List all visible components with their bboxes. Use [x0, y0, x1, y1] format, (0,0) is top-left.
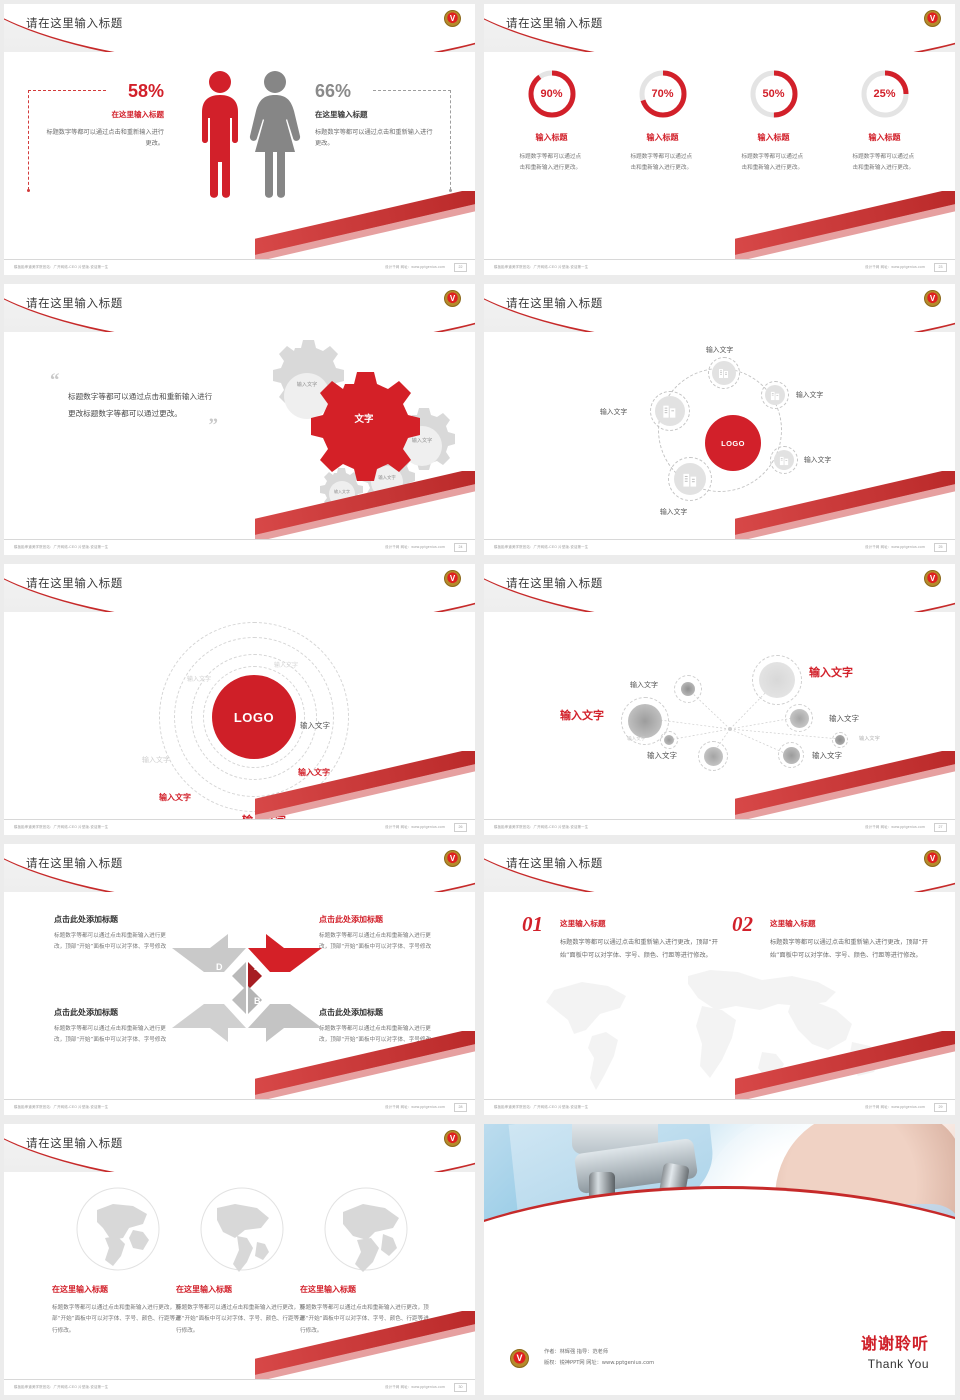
donut-value: 90% [526, 68, 578, 120]
logo-badge-icon: V [924, 850, 941, 867]
concentric-core-logo[interactable]: LOGO [212, 675, 296, 759]
donut-ring-25: 25% [859, 68, 911, 120]
gear-label: 输入文字 [402, 438, 442, 445]
thanks-chinese: 谢谢聆听 [861, 1330, 929, 1354]
corner-ribbon [735, 751, 955, 821]
slide-title: 请在这里输入标题 [26, 295, 123, 311]
donut-value: 50% [748, 68, 800, 120]
page-number: 29 [934, 1103, 947, 1112]
logo-badge-icon: V [924, 290, 941, 307]
female-figure-icon [250, 71, 300, 198]
slide-footer: 模板跆拳道美学院官站：广开网络-CEO 片型版-说话第一生 设计千网 网址：ww… [484, 819, 955, 835]
slide-title: 请在这里输入标题 [506, 575, 603, 591]
logo-badge-icon: V [924, 570, 941, 587]
donut-description: 标题数字等都可以通过点击和重新输入进行更改。 [742, 152, 806, 174]
hub-node-label: 输入文字 [600, 406, 627, 416]
globe-icon-asia [75, 1186, 161, 1272]
quadrant-title: 点击此处添加标题 [54, 1007, 174, 1018]
footer-right-text: 设计千网 网址：www.pptgenius.com [385, 1104, 445, 1109]
footer-left-text: 模板跆拳道美学院官站：广开网络-CEO 片型版-说话第一生 [14, 1384, 108, 1389]
orbit-label: 输入文字 [187, 674, 211, 683]
female-subtitle: 在这里输入标题 [315, 109, 435, 120]
corner-ribbon [255, 471, 475, 541]
building-icon [682, 471, 699, 488]
slide-concentric-logo[interactable]: 请在这里输入标题 V LOGO 输入文字 输入文字 输入文字 输入文字 输入文字… [0, 560, 480, 840]
badge-glyph: V [450, 1135, 455, 1143]
bracket-left [28, 90, 29, 190]
quadrant-bottom-left: 点击此处添加标题 标题数字等都可以通过点击和重新输入进行更改，顶部“开始”面板中… [54, 1007, 174, 1047]
corner-ribbon [735, 471, 955, 541]
corner-ribbon [255, 751, 475, 821]
donut-item: 50% 输入标题 标题数字等都可以通过点击和重新输入进行更改。 [718, 68, 829, 174]
footer-right-text: 设计千网 网址：www.pptgenius.com [385, 264, 445, 269]
slide-gears-quote[interactable]: 请在这里输入标题 V “ 标题数字等都可以通过点击和重新输入进行更改标题数字等都… [0, 280, 480, 560]
quote-open-icon: “ [50, 374, 218, 387]
stat-block-female: 66% 在这里输入标题 标题数字等都可以通过点击和重新输入进行更改。 [315, 82, 435, 150]
slide-thank-you[interactable]: V 作者：林辉强 指导：范老师 版权：锐神PPT网 网址：www.pptgeni… [480, 1120, 960, 1400]
orbit-label: 输入文字 [274, 660, 298, 669]
slide-gender-comparison[interactable]: 请在这里输入标题 V 58% 在这里输入标题 标题数字等都可以通过点击和重新输入… [0, 0, 480, 280]
badge-glyph: V [450, 15, 455, 23]
credits-block: 作者：林辉强 指导：范老师 版权：锐神PPT网 网址：www.pptgenius… [544, 1347, 654, 1369]
footer-left-text: 模板跆拳道美学院官站：广开网络-CEO 片型版-说话第一生 [14, 824, 108, 829]
network-node-large[interactable] [628, 704, 662, 738]
arrow-graphics [172, 928, 322, 1048]
slide-title: 请在这里输入标题 [506, 855, 603, 871]
thank-you-block: 谢谢聆听 Thank You [861, 1330, 929, 1371]
page-number: 26 [454, 823, 467, 832]
hub-node-top-right[interactable] [765, 385, 785, 405]
footer-left-text: 模板跆拳道美学院官站：广开网络-CEO 片型版-说话第一生 [14, 264, 108, 269]
male-description: 标题数字等都可以通过点击和重新输入进行更改。 [44, 127, 164, 150]
logo-badge-icon: V [444, 570, 461, 587]
network-node-label-primary: 输入文字 [560, 707, 604, 723]
bracket-right [450, 90, 451, 190]
badge-glyph: V [930, 855, 935, 863]
globe-title: 在这里输入标题 [176, 1284, 308, 1295]
footer-left-text: 模板跆拳道美学院官站：广开网络-CEO 片型版-说话第一生 [14, 1104, 108, 1109]
male-subtitle: 在这里输入标题 [44, 109, 164, 120]
page-number: 25 [934, 543, 947, 552]
arrow-letter-c: C [216, 996, 223, 1006]
donut-ring-70: 70% [637, 68, 689, 120]
corner-ribbon [735, 1031, 955, 1101]
hub-node-label: 输入文字 [660, 506, 687, 516]
badge-glyph: V [450, 855, 455, 863]
quadrant-title: 点击此处添加标题 [319, 914, 439, 925]
corner-ribbon [255, 1311, 475, 1381]
network-node-small[interactable] [664, 735, 674, 745]
donut-description: 标题数字等都可以通过点击和重新输入进行更改。 [631, 152, 695, 174]
logo-badge-icon: V [444, 1130, 461, 1147]
quadrant-desc: 标题数字等都可以通过点击和重新输入进行更改，顶部“开始”面板中可以对字体、字号修… [319, 931, 439, 954]
corner-ribbon [735, 191, 955, 261]
slide-footer: 模板跆拳道美学院官站：广开网络-CEO 片型版-说话第一生 设计千网 网址：ww… [4, 819, 475, 835]
network-node-label: 输入文字 [627, 736, 645, 742]
orbit-label: 输入文字 [300, 720, 330, 731]
donut-description: 标题数字等都可以通过点击和重新输入进行更改。 [853, 152, 917, 174]
logo-badge-icon: V [444, 10, 461, 27]
credit-copyright-line: 版权：锐神PPT网 网址：www.pptgenius.com [544, 1358, 654, 1369]
numbered-item-01: 01 这里输入标题 标题数字等都可以通过点击和重新输入进行更改，顶部“开始”面板… [522, 918, 722, 962]
network-node-label-primary: 输入文字 [809, 664, 853, 680]
donut-ring-90: 90% [526, 68, 578, 120]
thanks-english: Thank You [861, 1357, 929, 1371]
slide-grid: 请在这里输入标题 V 58% 在这里输入标题 标题数字等都可以通过点击和重新输入… [0, 0, 960, 1400]
slide-donut-stats[interactable]: 请在这里输入标题 V 90% 输入标题 标题数字等都可以通过点击和重新输入进 [480, 0, 960, 280]
badge-glyph: V [450, 295, 455, 303]
page-number: 23 [934, 263, 947, 272]
female-description: 标题数字等都可以通过点击和重新输入进行更改。 [315, 127, 435, 150]
footer-right-text: 设计千网 网址：www.pptgenius.com [865, 544, 925, 549]
globe-icon-americas [199, 1186, 285, 1272]
hub-node-label: 输入文字 [804, 454, 831, 464]
network-node-label: 输入文字 [647, 750, 677, 761]
badge-glyph: V [450, 575, 455, 583]
quote-block: “ 标题数字等都可以通过点击和重新输入进行更改标题数字等都可以通过更改。 ” [50, 374, 218, 432]
item-desc: 标题数字等都可以通过点击和重新输入进行更改，顶部“开始”面板中可以对字体、字号、… [770, 937, 932, 962]
item-desc: 标题数字等都可以通过点击和重新输入进行更改，顶部“开始”面板中可以对字体、字号、… [560, 937, 722, 962]
gender-figures [190, 68, 310, 203]
item-title: 这里输入标题 [560, 918, 722, 929]
donut-chart-row: 90% 输入标题 标题数字等都可以通过点击和重新输入进行更改。 70% [496, 68, 943, 174]
badge-glyph: V [930, 575, 935, 583]
arrow-c [172, 1004, 246, 1042]
quadrant-top-left: 点击此处添加标题 标题数字等都可以通过点击和重新输入进行更改，顶部“开始”面板中… [54, 914, 174, 954]
footer-right-text: 设计千网 网址：www.pptgenius.com [385, 824, 445, 829]
slide-network-nodes[interactable]: 请在这里输入标题 V [480, 560, 960, 840]
building-icon [779, 455, 790, 466]
donut-title: 输入标题 [536, 132, 568, 143]
slide-footer: 模板跆拳道美学院官站：广开网络-CEO 片型版-说话第一生 设计千网 网址：ww… [4, 259, 475, 275]
slide-footer: 模板跆拳道美学院官站：广开网络-CEO 片型版-说话第一生 设计千网 网址：ww… [484, 1099, 955, 1115]
globe-block-1: 在这里输入标题 标题数字等都可以通过点击和重新输入进行更改，顶部“开始”面板中可… [52, 1186, 184, 1337]
badge-glyph: V [930, 295, 935, 303]
footer-left-text: 模板跆拳道美学院官站：广开网络-CEO 片型版-说话第一生 [494, 264, 588, 269]
logo-badge-icon: V [924, 10, 941, 27]
hub-core-logo[interactable]: LOGO [705, 415, 761, 471]
bracket-dot-left [27, 189, 30, 192]
slide-title: 请在这里输入标题 [26, 1135, 123, 1151]
badge-glyph: V [516, 1354, 522, 1363]
slide-footer: 模板跆拳道美学院官站：广开网络-CEO 片型版-说话第一生 设计千网 网址：ww… [4, 539, 475, 555]
badge-glyph: V [930, 15, 935, 23]
quadrant-title: 点击此处添加标题 [319, 1007, 439, 1018]
quadrant-desc: 标题数字等都可以通过点击和重新输入进行更改，顶部“开始”面板中可以对字体、字号修… [54, 1024, 174, 1047]
male-percent: 58% [44, 82, 164, 102]
quote-text: 标题数字等都可以通过点击和重新输入进行更改标题数字等都可以通过更改。 [68, 389, 218, 422]
slide-footer: 模板跆拳道美学院官站：广开网络-CEO 片型版-说话第一生 设计千网 网址：ww… [484, 259, 955, 275]
slide-title: 请在这里输入标题 [26, 15, 123, 31]
donut-description: 标题数字等都可以通过点击和重新输入进行更改。 [520, 152, 584, 174]
donut-ring-50: 50% [748, 68, 800, 120]
page-number: 28 [454, 1103, 467, 1112]
network-node-label: 输入文字 [859, 735, 880, 742]
hub-node-label: 输入文字 [796, 389, 823, 399]
slide-abcd-arrows[interactable]: 请在这里输入标题 V 点击此处添加标题 标题数字等都可以通过点击和重新输入进行更… [0, 840, 480, 1120]
hub-node-bottom-right[interactable] [774, 450, 794, 470]
numbered-item-02: 02 这里输入标题 标题数字等都可以通过点击和重新输入进行更改，顶部“开始”面板… [732, 918, 932, 962]
male-figure-icon [202, 71, 238, 198]
logo-badge-icon: V [444, 290, 461, 307]
slide-title: 请在这里输入标题 [506, 15, 603, 31]
donut-item: 25% 输入标题 标题数字等都可以通过点击和重新输入进行更改。 [829, 68, 940, 174]
quadrant-top-right: 点击此处添加标题 标题数字等都可以通过点击和重新输入进行更改，顶部“开始”面板中… [319, 914, 439, 954]
quadrant-title: 点击此处添加标题 [54, 914, 174, 925]
globe-title: 在这里输入标题 [300, 1284, 432, 1295]
item-title: 这里输入标题 [770, 918, 932, 929]
gear-main-label: 文字 [334, 414, 394, 427]
footer-left-text: 模板跆拳道美学院官站：广开网络-CEO 片型版-说话第一生 [494, 824, 588, 829]
network-node-large[interactable] [759, 662, 795, 698]
logo-badge-icon: V [444, 850, 461, 867]
building-icon [770, 390, 781, 401]
orbit-label: 输入文字 [159, 792, 191, 803]
hub-node-top[interactable] [712, 361, 736, 385]
footer-right-text: 设计千网 网址：www.pptgenius.com [865, 1104, 925, 1109]
orbit-label: 输入文字 [142, 755, 170, 765]
hub-node-left[interactable] [655, 396, 685, 426]
arrow-letter-a: A [254, 962, 261, 972]
quadrant-desc: 标题数字等都可以通过点击和重新输入进行更改，顶部“开始”面板中可以对字体、字号修… [54, 931, 174, 954]
item-number: 02 [732, 912, 753, 937]
network-node[interactable] [790, 709, 809, 728]
corner-ribbon [255, 1031, 475, 1101]
network-node-label: 输入文字 [630, 680, 658, 690]
gear-label: 输入文字 [287, 382, 327, 389]
network-node-label: 输入文字 [829, 713, 859, 724]
hub-node-label: 输入文字 [706, 344, 733, 354]
page-number: 22 [454, 263, 467, 272]
donut-item: 70% 输入标题 标题数字等都可以通过点击和重新输入进行更改。 [607, 68, 718, 174]
network-node[interactable] [681, 682, 695, 696]
slide-title: 请在这里输入标题 [506, 295, 603, 311]
network-node-small[interactable] [835, 735, 845, 745]
female-percent: 66% [315, 82, 435, 102]
arrow-letter-d: D [216, 962, 223, 972]
slide-title: 请在这里输入标题 [26, 575, 123, 591]
corner-ribbon [255, 191, 475, 261]
donut-value: 70% [637, 68, 689, 120]
footer-right-text: 设计千网 网址：www.pptgenius.com [865, 824, 925, 829]
footer-left-text: 模板跆拳道美学院官站：广开网络-CEO 片型版-说话第一生 [14, 544, 108, 549]
page-number: 24 [454, 543, 467, 552]
page-number: 30 [454, 1383, 467, 1392]
slide-three-globes[interactable]: 请在这里输入标题 V 在这里输入标题 [0, 1120, 480, 1400]
item-number: 01 [522, 912, 543, 937]
footer-left-text: 模板跆拳道美学院官站：广开网络-CEO 片型版-说话第一生 [494, 1104, 588, 1109]
slide-footer: 模板跆拳道美学院官站：广开网络-CEO 片型版-说话第一生 设计千网 网址：ww… [484, 539, 955, 555]
slide-numbered-worldmap[interactable]: 请在这里输入标题 V 01 这里输入标题 [480, 840, 960, 1120]
slide-title: 请在这里输入标题 [26, 855, 123, 871]
donut-title: 输入标题 [869, 132, 901, 143]
footer-left-text: 模板跆拳道美学院官站：广开网络-CEO 片型版-说话第一生 [494, 544, 588, 549]
building-icon [662, 403, 678, 419]
footer-right-text: 设计千网 网址：www.pptgenius.com [385, 1384, 445, 1389]
building-icon [718, 367, 730, 379]
slide-footer: 模板跆拳道美学院官站：广开网络-CEO 片型版-说话第一生 设计千网 网址：ww… [4, 1099, 475, 1115]
footer-right-text: 设计千网 网址：www.pptgenius.com [385, 544, 445, 549]
credit-author-line: 作者：林辉强 指导：范老师 [544, 1347, 654, 1358]
logo-badge-icon: V [510, 1349, 529, 1368]
page-number: 27 [934, 823, 947, 832]
slide-logo-hub[interactable]: 请在这里输入标题 V LOGO 输入文字 [480, 280, 960, 560]
donut-value: 25% [859, 68, 911, 120]
footer-right-text: 设计千网 网址：www.pptgenius.com [865, 264, 925, 269]
donut-title: 输入标题 [758, 132, 790, 143]
network-node[interactable] [704, 747, 723, 766]
donut-item: 90% 输入标题 标题数字等都可以通过点击和重新输入进行更改。 [496, 68, 607, 174]
arrow-letter-b: B [254, 996, 261, 1006]
globe-icon-europe-africa [323, 1186, 409, 1272]
donut-title: 输入标题 [647, 132, 679, 143]
arrow-d [172, 934, 246, 972]
slide-footer: 模板跆拳道美学院官站：广开网络-CEO 片型版-说话第一生 设计千网 网址：ww… [4, 1379, 475, 1395]
hub-node-bottom[interactable] [674, 463, 706, 495]
stat-block-male: 58% 在这里输入标题 标题数字等都可以通过点击和重新输入进行更改。 [44, 82, 164, 150]
globe-title: 在这里输入标题 [52, 1284, 184, 1295]
globe-desc: 标题数字等都可以通过点击和重新输入进行更改，顶部“开始”面板中可以对字体、字号、… [52, 1303, 184, 1337]
arrow-cluster: D A C B [172, 928, 322, 1048]
